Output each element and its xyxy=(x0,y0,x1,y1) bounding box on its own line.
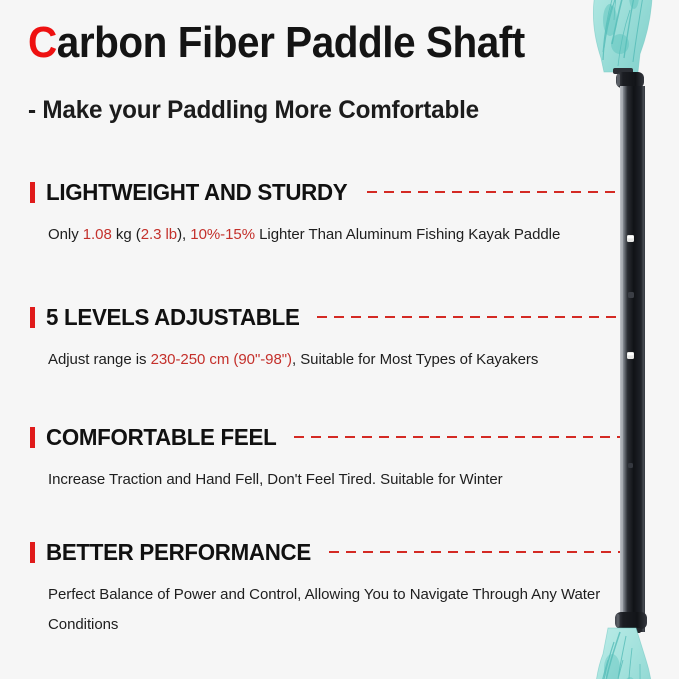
feature-heading-row: 5 LEVELS ADJUSTABLE xyxy=(30,303,620,331)
feature-description: Adjust range is 230-250 cm (90"-98"), Su… xyxy=(48,345,613,375)
feature-heading-row: BETTER PERFORMANCE xyxy=(30,538,620,566)
description-text: Lighter Than Aluminum Fishing Kayak Padd… xyxy=(255,226,560,243)
highlighted-value: 230-250 cm (90"-98") xyxy=(151,351,292,368)
feature-item: COMFORTABLE FEELIncrease Traction and Ha… xyxy=(30,423,620,495)
feature-description: Only 1.08 kg (2.3 lb), 10%-15% Lighter T… xyxy=(48,220,613,250)
dashed-divider xyxy=(294,436,620,438)
feature-title: 5 LEVELS ADJUSTABLE xyxy=(46,304,300,331)
description-text: ), xyxy=(177,226,190,243)
page-title: Carbon Fiber Paddle Shaft xyxy=(28,20,525,66)
bullet-marker-icon xyxy=(30,307,35,328)
feature-item: BETTER PERFORMANCEPerfect Balance of Pow… xyxy=(30,538,620,640)
dashed-divider xyxy=(317,316,620,318)
feature-heading-row: LIGHTWEIGHT AND STURDY xyxy=(30,178,620,206)
paddle-blade-top xyxy=(593,0,652,72)
infographic-canvas: Carbon Fiber Paddle Shaft - Make your Pa… xyxy=(0,0,679,679)
title-rest: arbon Fiber Paddle Shaft xyxy=(57,18,525,67)
feature-description: Perfect Balance of Power and Control, Al… xyxy=(48,580,613,640)
description-text: Only xyxy=(48,226,83,243)
description-text: Perfect Balance of Power and Control, Al… xyxy=(48,586,600,633)
paddle-ferrule-top xyxy=(613,68,644,88)
dashed-divider xyxy=(329,551,620,553)
dashed-divider xyxy=(367,191,620,193)
description-text: kg ( xyxy=(112,226,141,243)
highlighted-value: 2.3 lb xyxy=(141,226,177,243)
feature-heading-row: COMFORTABLE FEEL xyxy=(30,423,620,451)
page-subtitle: - Make your Paddling More Comfortable xyxy=(28,96,479,125)
description-text: Increase Traction and Hand Fell, Don't F… xyxy=(48,471,503,488)
title-accent-letter: C xyxy=(28,18,57,67)
description-text: Adjust range is xyxy=(48,351,151,368)
feature-title: LIGHTWEIGHT AND STURDY xyxy=(46,179,347,206)
bullet-marker-icon xyxy=(30,542,35,563)
feature-item: 5 LEVELS ADJUSTABLEAdjust range is 230-2… xyxy=(30,303,620,375)
bullet-marker-icon xyxy=(30,182,35,203)
description-text: , Suitable for Most Types of Kayakers xyxy=(292,351,538,368)
feature-item: LIGHTWEIGHT AND STURDYOnly 1.08 kg (2.3 … xyxy=(30,178,620,250)
highlighted-value: 10%-15% xyxy=(190,226,255,243)
feature-description: Increase Traction and Hand Fell, Don't F… xyxy=(48,465,613,495)
feature-title: COMFORTABLE FEEL xyxy=(46,424,276,451)
bullet-marker-icon xyxy=(30,427,35,448)
paddle-adjustment-buttons xyxy=(627,235,634,468)
highlighted-value: 1.08 xyxy=(83,226,112,243)
paddle-shaft xyxy=(620,86,645,632)
feature-title: BETTER PERFORMANCE xyxy=(46,539,311,566)
